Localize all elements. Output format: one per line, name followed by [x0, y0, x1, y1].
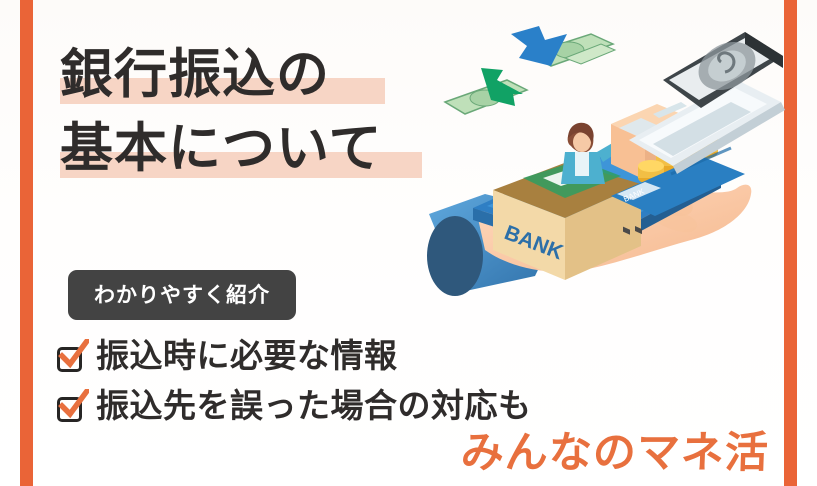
list-item: 振込時に必要な情報	[56, 332, 532, 380]
title-line-1-text: 銀行振込の	[60, 38, 460, 112]
checkbox-checked-icon	[56, 342, 87, 373]
page-title: 銀行振込の 基本について	[60, 38, 460, 186]
hand-holding-smartphone-bank-illustration: BANK	[415, 18, 785, 318]
left-orange-rule	[20, 0, 33, 486]
title-line-2-text: 基本について	[60, 112, 460, 186]
checklist-item-label: 振込時に必要な情報	[96, 336, 398, 376]
right-orange-rule	[784, 0, 797, 486]
brand-logo: みんなのマネ活	[460, 418, 770, 480]
banner-canvas: BANK	[0, 0, 817, 486]
list-item: 振込先を誤った場合の対応も	[56, 382, 532, 430]
title-line-2: 基本について	[60, 112, 460, 186]
title-line-1: 銀行振込の	[60, 38, 460, 112]
checklist: 振込時に必要な情報 振込先を誤った場合の対応も	[56, 332, 532, 432]
status-badge: わかりやすく紹介	[68, 270, 296, 320]
checkbox-checked-icon	[56, 392, 87, 423]
